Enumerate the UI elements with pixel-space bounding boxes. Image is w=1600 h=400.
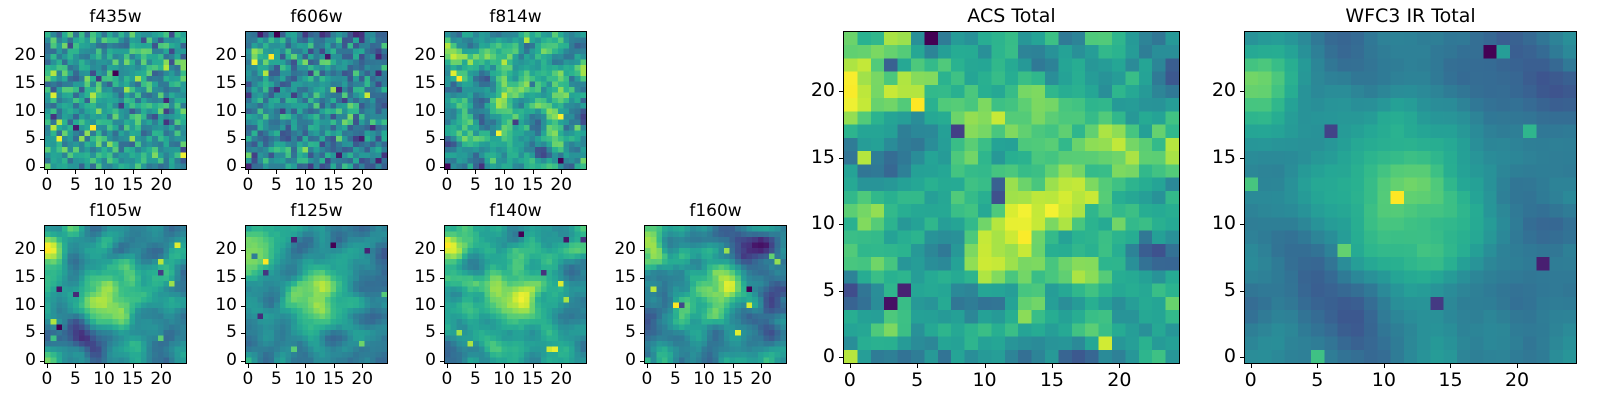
y-tickmark bbox=[241, 361, 245, 362]
panel-title-f105w: f105w bbox=[44, 203, 187, 220]
x-tick-label: 20 bbox=[141, 371, 181, 388]
y-tickmark bbox=[241, 84, 245, 85]
x-tickmark bbox=[1517, 364, 1518, 368]
heatmap-axes-f105w bbox=[44, 225, 187, 364]
panel-title-acs: ACS Total bbox=[843, 7, 1180, 26]
y-tickmark bbox=[1240, 158, 1244, 159]
y-tickmark bbox=[440, 84, 444, 85]
x-tickmark bbox=[334, 364, 335, 368]
y-tickmark bbox=[241, 167, 245, 168]
x-tickmark bbox=[305, 364, 306, 368]
y-tick-label: 0 bbox=[0, 158, 36, 175]
y-tickmark bbox=[1240, 91, 1244, 92]
x-tick-label: 0 bbox=[830, 371, 870, 390]
x-tick-label: 15 bbox=[1430, 371, 1470, 390]
x-tickmark bbox=[1450, 364, 1451, 368]
x-tickmark bbox=[133, 170, 134, 174]
y-tickmark bbox=[440, 56, 444, 57]
y-tickmark bbox=[40, 56, 44, 57]
y-tick-label: 20 bbox=[390, 47, 436, 64]
y-tickmark bbox=[640, 250, 644, 251]
y-tick-label: 10 bbox=[0, 103, 36, 120]
y-tickmark bbox=[241, 306, 245, 307]
heatmap-axes-f140w bbox=[444, 225, 587, 364]
heatmap-axes-f606w bbox=[245, 31, 388, 170]
y-tickmark bbox=[1240, 357, 1244, 358]
y-tickmark bbox=[241, 112, 245, 113]
x-tickmark bbox=[704, 364, 705, 368]
y-tickmark bbox=[440, 306, 444, 307]
x-tickmark bbox=[447, 170, 448, 174]
y-tick-label: 15 bbox=[0, 75, 36, 92]
x-tickmark bbox=[75, 364, 76, 368]
x-tickmark bbox=[1251, 364, 1252, 368]
x-tick-label: 20 bbox=[342, 177, 382, 194]
y-tick-label: 0 bbox=[0, 352, 36, 369]
x-tickmark bbox=[248, 364, 249, 368]
x-tickmark bbox=[561, 364, 562, 368]
heatmap-axes-wfc3 bbox=[1244, 31, 1577, 364]
y-tickmark bbox=[839, 158, 843, 159]
x-tick-label: 5 bbox=[897, 371, 937, 390]
x-tick-label: 20 bbox=[541, 371, 581, 388]
x-tickmark bbox=[47, 364, 48, 368]
panel-title-f160w: f160w bbox=[644, 203, 787, 220]
y-tick-label: 0 bbox=[390, 158, 436, 175]
x-tickmark bbox=[47, 170, 48, 174]
heatmap-image-acs bbox=[844, 32, 1179, 363]
y-tick-label: 10 bbox=[191, 297, 237, 314]
y-tick-label: 10 bbox=[1190, 214, 1236, 233]
x-tick-label: 20 bbox=[741, 371, 781, 388]
heatmap-image-f606w bbox=[246, 32, 387, 169]
x-tickmark bbox=[133, 364, 134, 368]
panel-title-f814w: f814w bbox=[444, 9, 587, 26]
x-tickmark bbox=[850, 364, 851, 368]
y-tick-label: 5 bbox=[789, 281, 835, 300]
y-tick-label: 15 bbox=[390, 269, 436, 286]
y-tick-label: 5 bbox=[191, 324, 237, 341]
y-tick-label: 10 bbox=[789, 214, 835, 233]
y-tickmark bbox=[241, 278, 245, 279]
x-tickmark bbox=[1052, 364, 1053, 368]
y-tick-label: 20 bbox=[590, 241, 636, 258]
x-tickmark bbox=[334, 170, 335, 174]
x-tick-label: 20 bbox=[342, 371, 382, 388]
x-tickmark bbox=[475, 364, 476, 368]
y-tickmark bbox=[839, 357, 843, 358]
y-tick-label: 20 bbox=[390, 241, 436, 258]
y-tick-label: 15 bbox=[1190, 148, 1236, 167]
heatmap-axes-acs bbox=[843, 31, 1180, 364]
heatmap-axes-f160w bbox=[644, 225, 787, 364]
y-tick-label: 0 bbox=[1190, 347, 1236, 366]
y-tickmark bbox=[1240, 224, 1244, 225]
y-tick-label: 15 bbox=[191, 269, 237, 286]
y-tickmark bbox=[40, 167, 44, 168]
x-tickmark bbox=[104, 170, 105, 174]
x-tickmark bbox=[733, 364, 734, 368]
x-tick-label: 10 bbox=[965, 371, 1005, 390]
x-tick-label: 20 bbox=[1099, 371, 1139, 390]
x-tick-label: 10 bbox=[1364, 371, 1404, 390]
y-tick-label: 10 bbox=[0, 297, 36, 314]
y-tick-label: 0 bbox=[191, 352, 237, 369]
x-tickmark bbox=[533, 170, 534, 174]
y-tick-label: 20 bbox=[1190, 81, 1236, 100]
x-tickmark bbox=[761, 364, 762, 368]
heatmap-axes-f814w bbox=[444, 31, 587, 170]
y-tick-label: 5 bbox=[390, 130, 436, 147]
x-tickmark bbox=[917, 364, 918, 368]
y-tick-label: 5 bbox=[0, 130, 36, 147]
x-tick-label: 20 bbox=[141, 177, 181, 194]
y-tick-label: 0 bbox=[191, 158, 237, 175]
y-tick-label: 0 bbox=[590, 352, 636, 369]
y-tick-label: 5 bbox=[0, 324, 36, 341]
y-tickmark bbox=[839, 224, 843, 225]
y-tick-label: 15 bbox=[789, 148, 835, 167]
y-tickmark bbox=[839, 91, 843, 92]
x-tickmark bbox=[362, 170, 363, 174]
y-tickmark bbox=[640, 361, 644, 362]
y-tickmark bbox=[640, 278, 644, 279]
y-tickmark bbox=[241, 250, 245, 251]
y-tick-label: 5 bbox=[191, 130, 237, 147]
panel-title-f125w: f125w bbox=[245, 203, 388, 220]
y-tickmark bbox=[440, 112, 444, 113]
y-tick-label: 10 bbox=[590, 297, 636, 314]
x-tickmark bbox=[248, 170, 249, 174]
x-tickmark bbox=[647, 364, 648, 368]
y-tick-label: 15 bbox=[0, 269, 36, 286]
y-tick-label: 15 bbox=[590, 269, 636, 286]
y-tickmark bbox=[241, 56, 245, 57]
y-tick-label: 20 bbox=[191, 241, 237, 258]
y-tickmark bbox=[40, 278, 44, 279]
x-tickmark bbox=[276, 170, 277, 174]
y-tick-label: 20 bbox=[191, 47, 237, 64]
heatmap-image-f140w bbox=[445, 226, 586, 363]
heatmap-image-f125w bbox=[246, 226, 387, 363]
y-tick-label: 10 bbox=[390, 297, 436, 314]
panel-title-f435w: f435w bbox=[44, 9, 187, 26]
x-tickmark bbox=[675, 364, 676, 368]
y-tickmark bbox=[440, 361, 444, 362]
y-tickmark bbox=[40, 139, 44, 140]
y-tick-label: 20 bbox=[0, 47, 36, 64]
y-tickmark bbox=[40, 361, 44, 362]
y-tickmark bbox=[40, 250, 44, 251]
x-tick-label: 0 bbox=[1231, 371, 1271, 390]
x-tick-label: 20 bbox=[1497, 371, 1537, 390]
heatmap-image-f814w bbox=[445, 32, 586, 169]
x-tickmark bbox=[475, 170, 476, 174]
y-tick-label: 0 bbox=[789, 347, 835, 366]
x-tickmark bbox=[1317, 364, 1318, 368]
y-tick-label: 5 bbox=[590, 324, 636, 341]
heatmap-image-f435w bbox=[45, 32, 186, 169]
y-tickmark bbox=[1240, 291, 1244, 292]
y-tickmark bbox=[839, 291, 843, 292]
y-tickmark bbox=[440, 278, 444, 279]
y-tick-label: 15 bbox=[191, 75, 237, 92]
x-tickmark bbox=[362, 364, 363, 368]
y-tickmark bbox=[241, 333, 245, 334]
panel-title-wfc3: WFC3 IR Total bbox=[1244, 7, 1577, 26]
x-tickmark bbox=[504, 170, 505, 174]
y-tick-label: 5 bbox=[390, 324, 436, 341]
x-tick-label: 15 bbox=[1032, 371, 1072, 390]
heatmap-image-wfc3 bbox=[1245, 32, 1576, 363]
panel-title-f140w: f140w bbox=[444, 203, 587, 220]
y-tickmark bbox=[241, 139, 245, 140]
y-tickmark bbox=[640, 333, 644, 334]
heatmap-axes-f125w bbox=[245, 225, 388, 364]
heatmap-image-f160w bbox=[645, 226, 786, 363]
y-tick-label: 20 bbox=[0, 241, 36, 258]
x-tickmark bbox=[276, 364, 277, 368]
x-tickmark bbox=[561, 170, 562, 174]
x-tickmark bbox=[1384, 364, 1385, 368]
y-tickmark bbox=[40, 306, 44, 307]
y-tickmark bbox=[440, 333, 444, 334]
y-tick-label: 10 bbox=[191, 103, 237, 120]
y-tickmark bbox=[440, 139, 444, 140]
y-tickmark bbox=[440, 250, 444, 251]
y-tickmark bbox=[640, 306, 644, 307]
x-tickmark bbox=[447, 364, 448, 368]
x-tickmark bbox=[75, 170, 76, 174]
x-tick-label: 5 bbox=[1297, 371, 1337, 390]
x-tickmark bbox=[305, 170, 306, 174]
x-tickmark bbox=[504, 364, 505, 368]
heatmap-axes-f435w bbox=[44, 31, 187, 170]
y-tick-label: 0 bbox=[390, 352, 436, 369]
y-tick-label: 15 bbox=[390, 75, 436, 92]
x-tickmark bbox=[1119, 364, 1120, 368]
x-tickmark bbox=[104, 364, 105, 368]
x-tick-label: 20 bbox=[541, 177, 581, 194]
panel-title-f606w: f606w bbox=[245, 9, 388, 26]
x-tickmark bbox=[161, 170, 162, 174]
y-tick-label: 20 bbox=[789, 81, 835, 100]
y-tickmark bbox=[40, 84, 44, 85]
heatmap-image-f105w bbox=[45, 226, 186, 363]
x-tickmark bbox=[161, 364, 162, 368]
y-tickmark bbox=[40, 333, 44, 334]
y-tickmark bbox=[40, 112, 44, 113]
y-tick-label: 5 bbox=[1190, 281, 1236, 300]
y-tick-label: 10 bbox=[390, 103, 436, 120]
x-tickmark bbox=[985, 364, 986, 368]
x-tickmark bbox=[533, 364, 534, 368]
y-tickmark bbox=[440, 167, 444, 168]
